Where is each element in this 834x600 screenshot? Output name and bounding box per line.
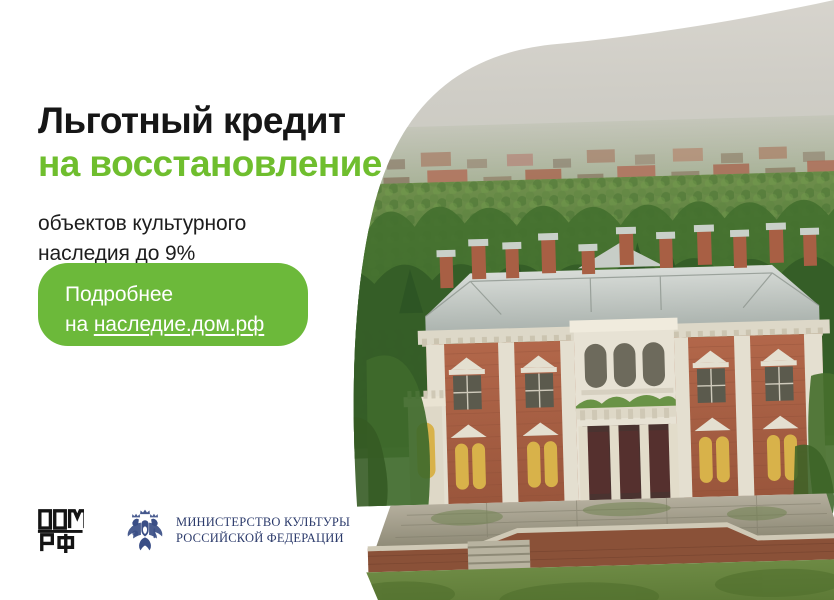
promo-banner: Льготный кредит на восстановление объект…: [0, 0, 834, 600]
cta-prefix: на: [65, 313, 94, 336]
double-headed-eagle-icon: [124, 508, 166, 552]
ministry-of-culture-logo[interactable]: Министерство культуры Российской Федерац…: [124, 508, 350, 552]
ministry-name: Министерство культуры Российской Федерац…: [176, 514, 350, 547]
cta-label: Подробнее на наследие.дом.рф: [65, 280, 264, 340]
logo-row: Министерство культуры Российской Федерац…: [36, 506, 350, 554]
ministry-line-1: Министерство культуры: [176, 515, 350, 529]
subtitle: объектов культурного наследия до 9%: [38, 209, 338, 269]
domrf-logo[interactable]: [36, 506, 84, 554]
headline-line-2: на восстановление: [38, 142, 368, 186]
more-details-button[interactable]: Подробнее на наследие.дом.рф: [38, 263, 308, 346]
ministry-line-2: Российской Федерации: [176, 530, 350, 547]
subtitle-line-1: объектов культурного: [38, 212, 246, 235]
hero-photo-container: [343, 0, 834, 600]
domrf-logo-icon: [36, 506, 84, 554]
page-title: Льготный кредит на восстановление: [38, 99, 368, 186]
text-column: Льготный кредит на восстановление объект…: [0, 0, 360, 600]
cta-website-link[interactable]: наследие.дом.рф: [94, 313, 264, 336]
cta-line-1: Подробнее: [65, 283, 173, 306]
hero-photo-image: [343, 0, 834, 600]
headline-line-1: Льготный кредит: [38, 100, 345, 141]
cta-line-2: на наследие.дом.рф: [65, 310, 264, 340]
hero-photo-clip: [343, 0, 834, 600]
